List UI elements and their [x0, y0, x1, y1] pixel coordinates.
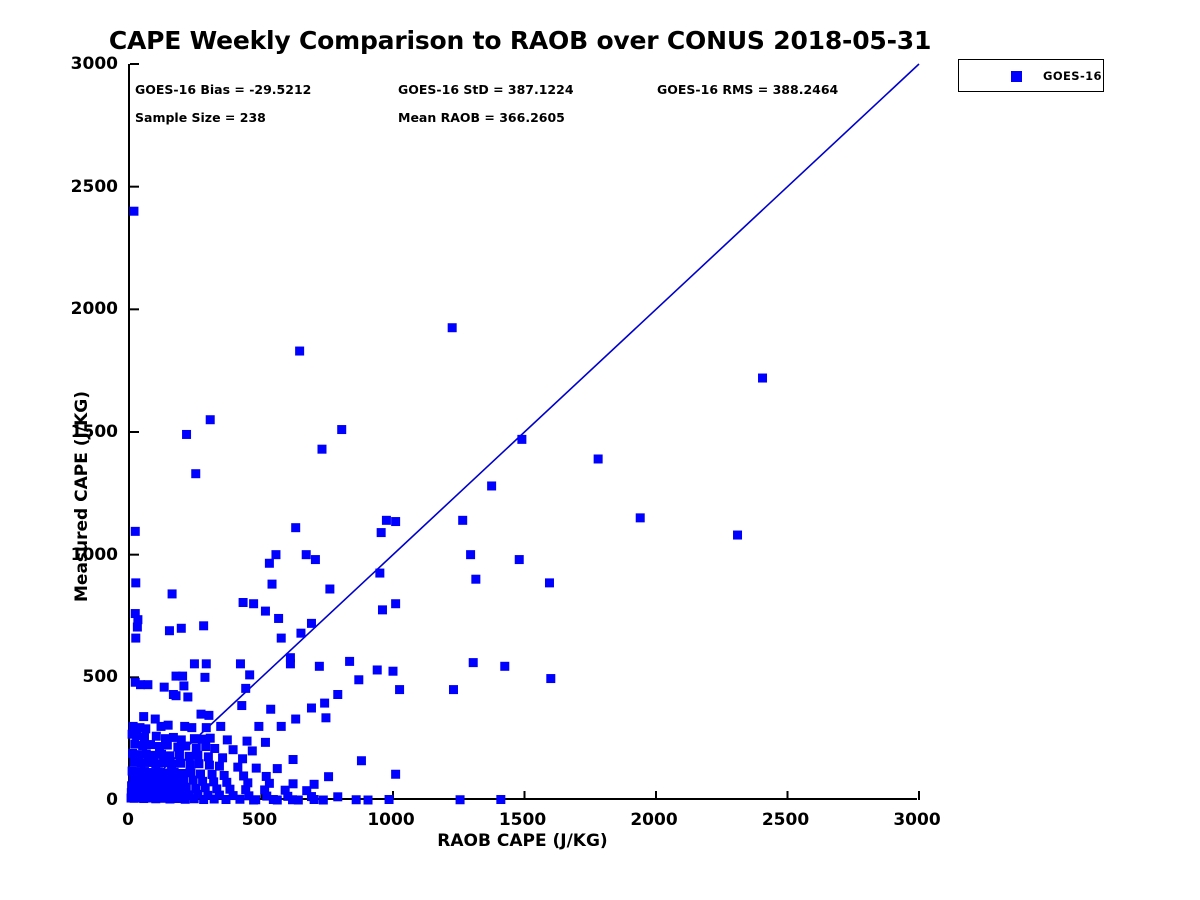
- data-point: [273, 796, 282, 805]
- data-point: [337, 425, 346, 434]
- y-tick-label-2000: 2000: [30, 299, 118, 319]
- data-point: [487, 481, 496, 490]
- data-point: [448, 323, 457, 332]
- plot-area: [128, 64, 917, 800]
- data-point: [204, 752, 213, 761]
- data-point: [373, 665, 382, 674]
- data-point: [243, 737, 252, 746]
- data-point: [141, 724, 150, 733]
- legend-label-goes-16: GOES-16: [1043, 69, 1102, 83]
- data-point: [157, 750, 166, 759]
- data-point: [286, 659, 295, 668]
- data-point: [268, 580, 277, 589]
- data-point: [375, 569, 384, 578]
- data-point: [271, 550, 280, 559]
- data-point: [199, 621, 208, 630]
- x-tick-label-1000: 1000: [367, 810, 414, 830]
- data-point: [248, 746, 257, 755]
- data-point: [261, 738, 270, 747]
- data-point: [191, 469, 200, 478]
- data-point: [395, 685, 404, 694]
- data-point: [182, 430, 191, 439]
- data-point: [204, 711, 213, 720]
- data-point: [296, 629, 305, 638]
- data-point: [389, 667, 398, 676]
- data-point: [385, 795, 394, 804]
- data-point: [546, 674, 555, 683]
- data-point: [245, 670, 254, 679]
- data-point: [317, 445, 326, 454]
- data-point: [229, 745, 238, 754]
- data-point: [131, 634, 140, 643]
- data-point: [132, 731, 141, 740]
- plot-canvas: [130, 64, 919, 800]
- data-point: [177, 624, 186, 633]
- data-point: [357, 756, 366, 765]
- data-point: [146, 740, 155, 749]
- data-point: [160, 683, 169, 692]
- data-point: [197, 710, 206, 719]
- data-point: [181, 795, 190, 804]
- legend-swatch-goes-16: [1011, 71, 1022, 82]
- data-point: [449, 685, 458, 694]
- legend: GOES-16: [958, 59, 1104, 92]
- data-point: [159, 758, 168, 767]
- data-point: [176, 759, 185, 768]
- data-point: [133, 623, 142, 632]
- data-point: [131, 527, 140, 536]
- page-title: CAPE Weekly Comparison to RAOB over CONU…: [0, 26, 1040, 55]
- data-point: [469, 658, 478, 667]
- data-point: [235, 795, 244, 804]
- data-point: [223, 735, 232, 744]
- data-point: [274, 614, 283, 623]
- data-point: [302, 550, 311, 559]
- data-point: [179, 681, 188, 690]
- data-point: [515, 555, 524, 564]
- data-point: [733, 531, 742, 540]
- data-point: [354, 675, 363, 684]
- data-point: [289, 755, 298, 764]
- data-point: [175, 750, 184, 759]
- x-axis-title: RAOB CAPE (J/KG): [128, 831, 917, 851]
- data-point: [345, 657, 354, 666]
- y-tick-label-2500: 2500: [30, 177, 118, 197]
- data-point: [190, 659, 199, 668]
- data-point: [163, 741, 172, 750]
- data-point: [517, 435, 526, 444]
- data-point: [266, 705, 275, 714]
- data-point: [352, 795, 361, 804]
- data-point: [382, 516, 391, 525]
- data-point: [291, 715, 300, 724]
- data-point: [181, 742, 190, 751]
- data-point: [202, 659, 211, 668]
- data-point: [218, 753, 227, 762]
- data-point: [466, 550, 475, 559]
- data-point: [172, 691, 181, 700]
- data-point: [236, 659, 245, 668]
- data-point: [261, 607, 270, 616]
- data-point: [215, 762, 224, 771]
- data-point: [311, 555, 320, 564]
- data-point: [471, 575, 480, 584]
- data-point: [252, 764, 261, 773]
- data-point: [193, 751, 202, 760]
- data-point: [178, 672, 187, 681]
- data-point: [238, 754, 247, 763]
- data-point: [496, 795, 505, 804]
- data-point: [458, 516, 467, 525]
- data-point: [324, 772, 333, 781]
- data-point: [291, 523, 300, 532]
- data-point: [202, 723, 211, 732]
- data-point: [241, 684, 250, 693]
- stat-sample-size: Sample Size = 238: [135, 110, 266, 125]
- data-point: [165, 626, 174, 635]
- stat-bias: GOES-16 Bias = -29.5212: [135, 82, 311, 97]
- data-point: [152, 732, 161, 741]
- data-point: [237, 701, 246, 710]
- data-point: [131, 578, 140, 587]
- data-point: [129, 207, 138, 216]
- data-point: [325, 585, 334, 594]
- data-point: [168, 589, 177, 598]
- data-point: [194, 759, 203, 768]
- data-point: [205, 761, 214, 770]
- data-point: [294, 796, 303, 805]
- y-tick-label-3000: 3000: [30, 54, 118, 74]
- data-point: [249, 599, 258, 608]
- x-tick-label-2000: 2000: [630, 810, 677, 830]
- data-point: [289, 779, 298, 788]
- data-point: [321, 713, 330, 722]
- data-point: [378, 605, 387, 614]
- data-point: [151, 759, 160, 768]
- data-point: [273, 764, 282, 773]
- data-point: [173, 743, 182, 752]
- data-point: [377, 528, 386, 537]
- data-point: [233, 763, 242, 772]
- data-point: [190, 794, 199, 803]
- data-point: [319, 796, 328, 805]
- data-point: [221, 795, 230, 804]
- data-point: [500, 662, 509, 671]
- data-point: [200, 673, 209, 682]
- data-point: [307, 704, 316, 713]
- data-point: [173, 794, 182, 803]
- x-tick-label-3000: 3000: [893, 810, 940, 830]
- stat-mean-raob: Mean RAOB = 366.2605: [398, 110, 565, 125]
- data-point: [254, 722, 263, 731]
- data-point: [185, 752, 194, 761]
- y-tick-label-500: 500: [30, 667, 118, 687]
- data-point: [320, 699, 329, 708]
- data-point: [167, 760, 176, 769]
- stat-rms: GOES-16 RMS = 388.2464: [657, 82, 838, 97]
- data-point: [201, 742, 210, 751]
- x-tick-label-1500: 1500: [499, 810, 546, 830]
- data-point: [277, 722, 286, 731]
- data-point: [456, 795, 465, 804]
- data-point: [758, 374, 767, 383]
- data-point: [199, 795, 208, 804]
- data-point: [130, 740, 139, 749]
- data-point: [216, 722, 225, 731]
- data-point: [206, 734, 215, 743]
- data-point: [333, 792, 342, 801]
- x-tick-label-500: 500: [242, 810, 278, 830]
- data-point: [143, 680, 152, 689]
- data-point: [138, 741, 147, 750]
- data-point: [185, 760, 194, 769]
- data-point: [183, 692, 192, 701]
- scatter-plot-figure: CAPE Weekly Comparison to RAOB over CONU…: [0, 0, 1200, 900]
- data-point: [391, 599, 400, 608]
- data-point: [164, 721, 173, 730]
- data-point: [187, 723, 196, 732]
- y-tick-label-0: 0: [30, 790, 118, 810]
- data-point: [277, 634, 286, 643]
- data-point: [139, 712, 148, 721]
- data-point: [155, 742, 164, 751]
- y-axis-title: Measured CAPE (J/KG): [72, 391, 92, 602]
- data-point: [307, 619, 316, 628]
- data-point: [190, 734, 199, 743]
- data-point: [636, 513, 645, 522]
- data-point: [315, 662, 324, 671]
- data-point: [265, 559, 274, 568]
- x-tick-label-2500: 2500: [762, 810, 809, 830]
- data-point: [391, 517, 400, 526]
- data-point: [210, 744, 219, 753]
- data-point: [210, 795, 219, 804]
- data-point: [594, 454, 603, 463]
- data-point: [239, 598, 248, 607]
- data-point: [545, 578, 554, 587]
- stat-std: GOES-16 StD = 387.1224: [398, 82, 574, 97]
- data-point: [249, 796, 258, 805]
- data-point: [295, 347, 304, 356]
- x-tick-label-0: 0: [122, 810, 134, 830]
- data-point: [310, 795, 319, 804]
- data-point: [364, 796, 373, 805]
- data-point: [391, 770, 400, 779]
- data-point: [333, 690, 342, 699]
- data-point: [206, 415, 215, 424]
